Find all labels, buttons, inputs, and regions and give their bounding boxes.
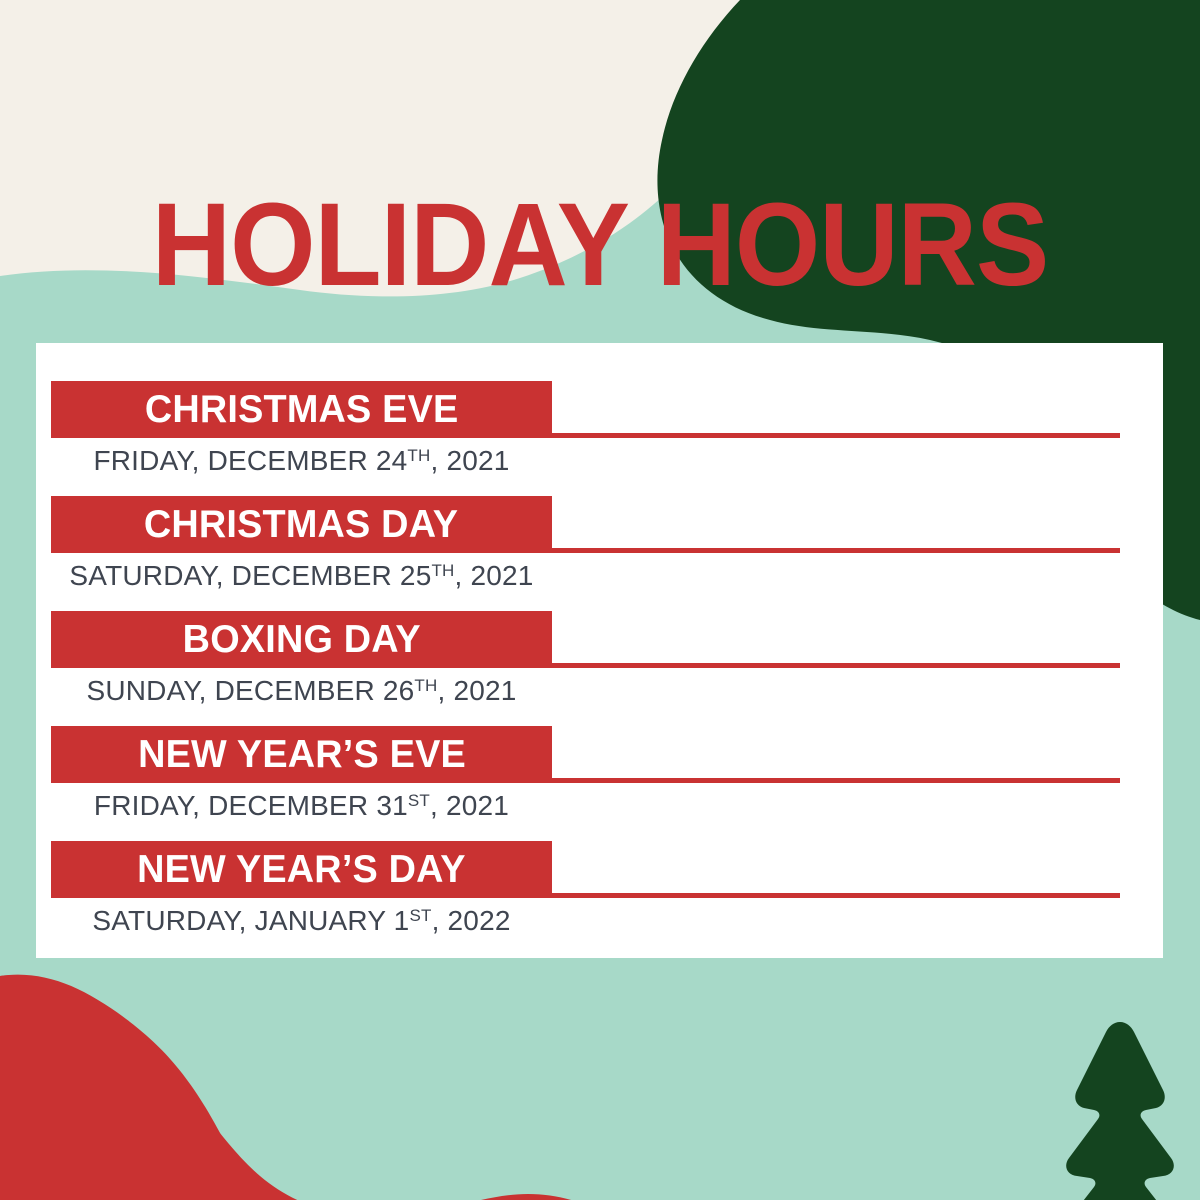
holiday-date-ordinal: TH [407,446,430,465]
holiday-name-label: CHRISTMAS DAY [144,505,458,545]
holiday-name-label: NEW YEAR’S DAY [137,850,466,890]
holiday-date: SATURDAY, DECEMBER 25TH, 2021 [51,556,552,596]
holiday-date-prefix: FRIDAY, DECEMBER 31 [94,790,408,821]
schedule-card: CHRISTMAS EVE FRIDAY, DECEMBER 24TH, 202… [36,343,1163,958]
holiday-date-suffix: , 2021 [455,560,534,591]
holiday-date-suffix: , 2021 [430,445,509,476]
holiday-name-chip: NEW YEAR’S DAY [51,841,552,898]
hours-write-in-rule [552,548,1120,553]
hours-write-in-rule [552,778,1120,783]
holiday-name-label: BOXING DAY [182,620,420,660]
holiday-name-chip: CHRISTMAS EVE [51,381,552,438]
holiday-date-ordinal: ST [408,791,430,810]
hours-write-in-rule [552,893,1120,898]
schedule-row: NEW YEAR’S EVE FRIDAY, DECEMBER 31ST, 20… [36,726,1163,841]
schedule-row: CHRISTMAS DAY SATURDAY, DECEMBER 25TH, 2… [36,496,1163,611]
holiday-name-label: CHRISTMAS EVE [145,390,459,430]
page-title: HOLIDAY HOURS [42,186,1158,304]
holiday-name-label: NEW YEAR’S EVE [138,735,466,775]
holiday-name-chip: CHRISTMAS DAY [51,496,552,553]
hours-write-in-rule [552,663,1120,668]
holiday-hours-poster: HOLIDAY HOURS CHRISTMAS EVE FRIDAY, DECE… [0,0,1200,1200]
holiday-date-ordinal: ST [409,906,431,925]
holiday-date-suffix: , 2021 [437,675,516,706]
holiday-date: SUNDAY, DECEMBER 26TH, 2021 [51,671,552,711]
holiday-date: FRIDAY, DECEMBER 24TH, 2021 [51,441,552,481]
schedule-row: BOXING DAY SUNDAY, DECEMBER 26TH, 2021 [36,611,1163,726]
hours-write-in-rule [552,433,1120,438]
holiday-name-chip: BOXING DAY [51,611,552,668]
holiday-date-prefix: SUNDAY, DECEMBER 26 [86,675,414,706]
holiday-date-ordinal: TH [414,676,437,695]
holiday-date-prefix: FRIDAY, DECEMBER 24 [93,445,407,476]
holiday-date: FRIDAY, DECEMBER 31ST, 2021 [51,786,552,826]
schedule-row: CHRISTMAS EVE FRIDAY, DECEMBER 24TH, 202… [36,381,1163,496]
holiday-date-prefix: SATURDAY, DECEMBER 25 [69,560,431,591]
holiday-date-ordinal: TH [431,561,454,580]
holiday-name-chip: NEW YEAR’S EVE [51,726,552,783]
holiday-date: SATURDAY, JANUARY 1ST, 2022 [51,901,552,941]
schedule-row: NEW YEAR’S DAY SATURDAY, JANUARY 1ST, 20… [36,841,1163,956]
holiday-date-suffix: , 2022 [432,905,511,936]
holiday-date-prefix: SATURDAY, JANUARY 1 [92,905,409,936]
holiday-date-suffix: , 2021 [430,790,509,821]
